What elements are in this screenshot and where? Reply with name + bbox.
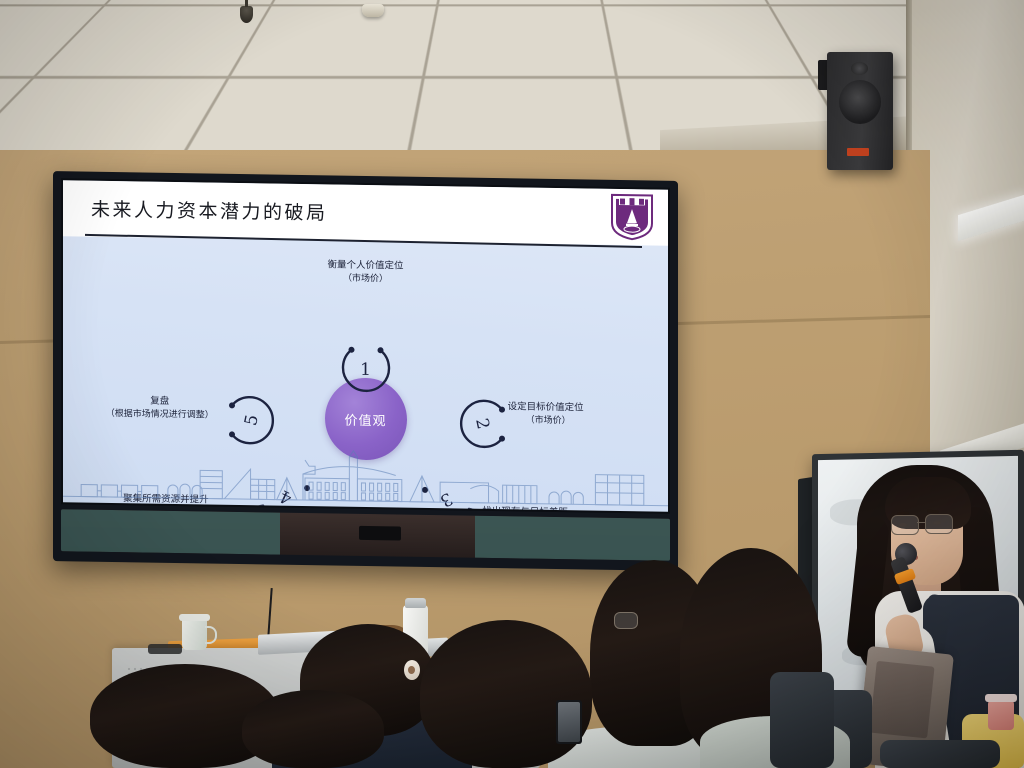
step-label-5: 复盘 （根据市场情况进行调整） (81, 394, 238, 423)
hub-label: 价值观 (344, 409, 386, 429)
pink-tumbler-lid (985, 694, 1017, 702)
presentation-slide: 未来人力资本潜力的破局 价值观 (63, 180, 668, 512)
wall-display[interactable]: 未来人力资本潜力的破局 价值观 (53, 171, 678, 571)
step-arc-2: 2 (453, 394, 511, 453)
water-bottle-cap (405, 598, 426, 608)
speaker-brand-badge (847, 148, 869, 156)
eyeglasses-on-desk (148, 644, 182, 654)
university-crest-icon (610, 193, 654, 242)
presenter-glasses-icon (891, 515, 957, 535)
woofer-icon (839, 80, 881, 124)
smartphone-screen (558, 702, 580, 742)
wall-speaker (827, 52, 893, 170)
audience-glasses-icon (614, 612, 638, 629)
step-arc-1: 1 (337, 341, 395, 400)
smartphone[interactable] (556, 700, 582, 744)
paper-cup-lid (179, 614, 210, 621)
step-number-1: 1 (337, 341, 395, 400)
tweeter-icon (851, 62, 868, 75)
ceiling-tile (423, 5, 618, 77)
bag-panel (869, 661, 934, 739)
slide-title: 未来人力资本潜力的破局 (91, 195, 328, 226)
smoke-detector-icon (362, 4, 384, 17)
chair-front (880, 740, 1000, 768)
value-cycle-diagram: 价值观 1 2 (63, 236, 668, 512)
audience-head-4 (242, 690, 384, 768)
ceiling-hook-icon (240, 6, 253, 23)
lecture-hall-photo: 未来人力资本潜力的破局 价值观 (0, 0, 1024, 768)
display-brand-logo (359, 526, 401, 541)
hair-clip (404, 660, 420, 680)
soundbar-grille-right (475, 516, 670, 561)
soundbar-grille-left (61, 509, 280, 554)
pink-tumbler (988, 700, 1014, 730)
step-label-2: 设定目标价值定位 （市场价） (508, 400, 584, 428)
audience-head-2 (420, 620, 592, 768)
chair-center (770, 672, 834, 768)
step-label-1: 衡量个人价值定位 （市场价） (327, 258, 403, 286)
paper-cup (182, 618, 207, 650)
campus-skyline-graphic (63, 440, 668, 512)
display-soundbar (61, 509, 670, 561)
